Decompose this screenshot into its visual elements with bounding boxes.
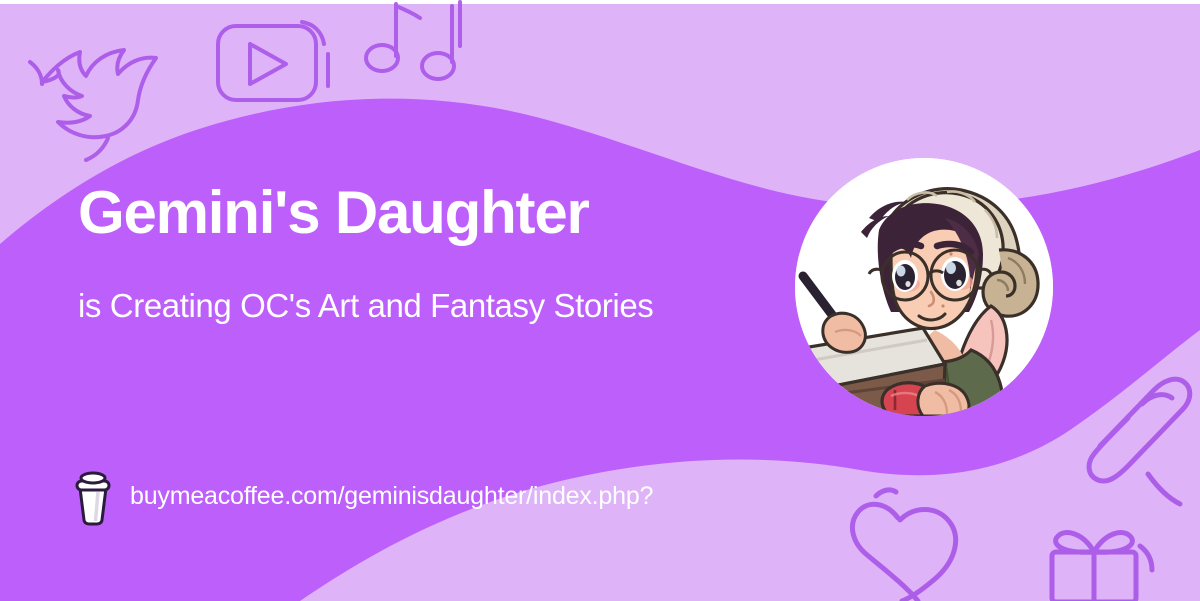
- profile-url-text: buymeacoffee.com/geminisdaughter/index.p…: [130, 481, 653, 511]
- buy-me-a-coffee-banner: Gemini's Daughter is Creating OC's Art a…: [0, 0, 1200, 601]
- avatar-illustration: [795, 158, 1053, 416]
- coffee-cup-icon: [70, 466, 116, 526]
- creator-tagline: is Creating OC's Art and Fantasy Stories: [78, 283, 728, 329]
- profile-url-row[interactable]: buymeacoffee.com/geminisdaughter/index.p…: [70, 466, 653, 526]
- creator-name-heading: Gemini's Daughter: [78, 181, 589, 245]
- creator-avatar: [795, 158, 1053, 416]
